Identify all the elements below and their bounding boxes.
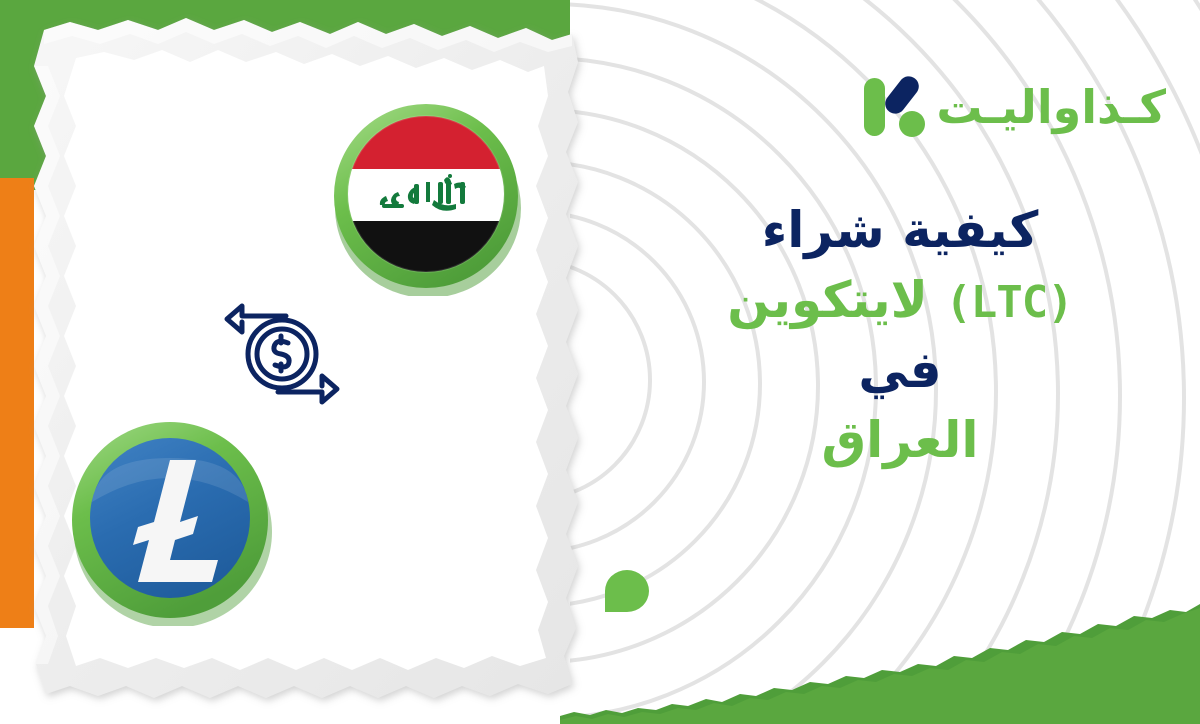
brand-logo[interactable]: كـذاواليـت bbox=[862, 72, 1166, 142]
headline-block: كيفية شراء (LTC) لايتكوين في العراق bbox=[640, 195, 1160, 475]
iraq-flag-coin bbox=[326, 96, 526, 296]
headline-line-2: (LTC) لايتكوين bbox=[640, 265, 1160, 335]
headline-ticker: (LTC) bbox=[945, 277, 1072, 328]
litecoin-coin bbox=[66, 416, 276, 626]
poster-canvas: كـذاواليـت كيفية شراء (LTC) لايتكوين في … bbox=[0, 0, 1200, 724]
headline-line-1: كيفية شراء bbox=[640, 195, 1160, 265]
headline-coin-name: لايتكوين bbox=[727, 271, 928, 329]
headline-line-4: العراق bbox=[640, 405, 1160, 475]
green-teardrop-shape bbox=[605, 570, 649, 612]
brand-logo-text: كـذاواليـت bbox=[936, 84, 1166, 130]
headline-line-3: في bbox=[640, 335, 1160, 405]
torn-green-band-bottom bbox=[560, 584, 1200, 724]
money-exchange-icon bbox=[222, 296, 342, 414]
kathawallet-k-mark-icon bbox=[862, 72, 928, 142]
